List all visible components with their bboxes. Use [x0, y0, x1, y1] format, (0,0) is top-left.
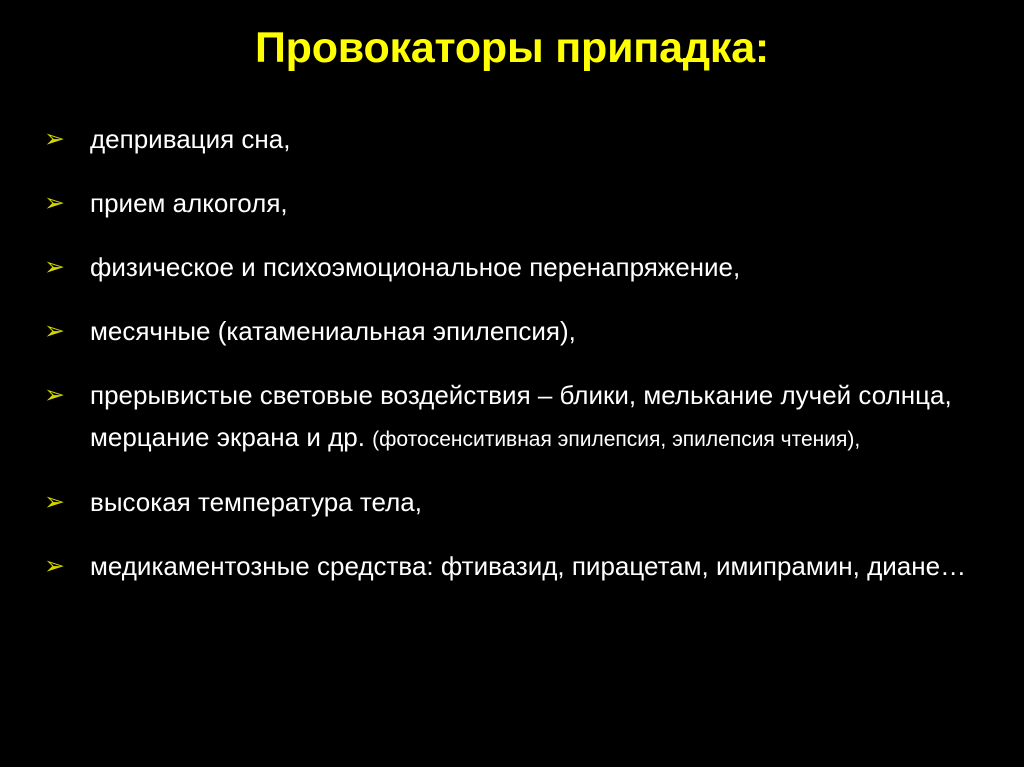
arrow-bullet-icon: ➢: [44, 374, 74, 416]
list-item: ➢ физическое и психоэмоциональное перена…: [44, 246, 1004, 288]
list-item-text: депривация сна,: [90, 118, 1004, 160]
arrow-bullet-icon: ➢: [44, 310, 74, 352]
arrow-bullet-icon: ➢: [44, 481, 74, 523]
list-item: ➢ депривация сна,: [44, 118, 1004, 160]
bullet-list: ➢ депривация сна, ➢ прием алкоголя, ➢ фи…: [44, 118, 1004, 587]
arrow-bullet-icon: ➢: [44, 182, 74, 224]
page-title: Провокаторы припадка:: [0, 26, 1024, 71]
list-item: ➢ высокая температура тела,: [44, 481, 1004, 523]
list-item-text: высокая температура тела,: [90, 481, 1004, 523]
list-item-text: месячные (катамениальная эпилепсия),: [90, 310, 1004, 352]
list-item-text: прерывистые световые воздействия – блики…: [90, 374, 1004, 461]
slide-canvas: Провокаторы припадка: ➢ депривация сна, …: [0, 0, 1024, 767]
list-item: ➢ прием алкоголя,: [44, 182, 1004, 224]
list-item: ➢ месячные (катамениальная эпилепсия),: [44, 310, 1004, 352]
list-item-text: прием алкоголя,: [90, 182, 1004, 224]
list-item: ➢ прерывистые световые воздействия – бли…: [44, 374, 1004, 461]
arrow-bullet-icon: ➢: [44, 545, 74, 587]
list-item-text: физическое и психоэмоциональное перенапр…: [90, 246, 1004, 288]
list-item-text: медикаментозные средства: фтивазид, пира…: [90, 545, 1004, 587]
arrow-bullet-icon: ➢: [44, 118, 74, 160]
list-item: ➢ медикаментозные средства: фтивазид, пи…: [44, 545, 1004, 587]
list-item-note-text: (фотосенситивная эпилепсия, эпилепсия чт…: [372, 428, 860, 451]
arrow-bullet-icon: ➢: [44, 246, 74, 288]
